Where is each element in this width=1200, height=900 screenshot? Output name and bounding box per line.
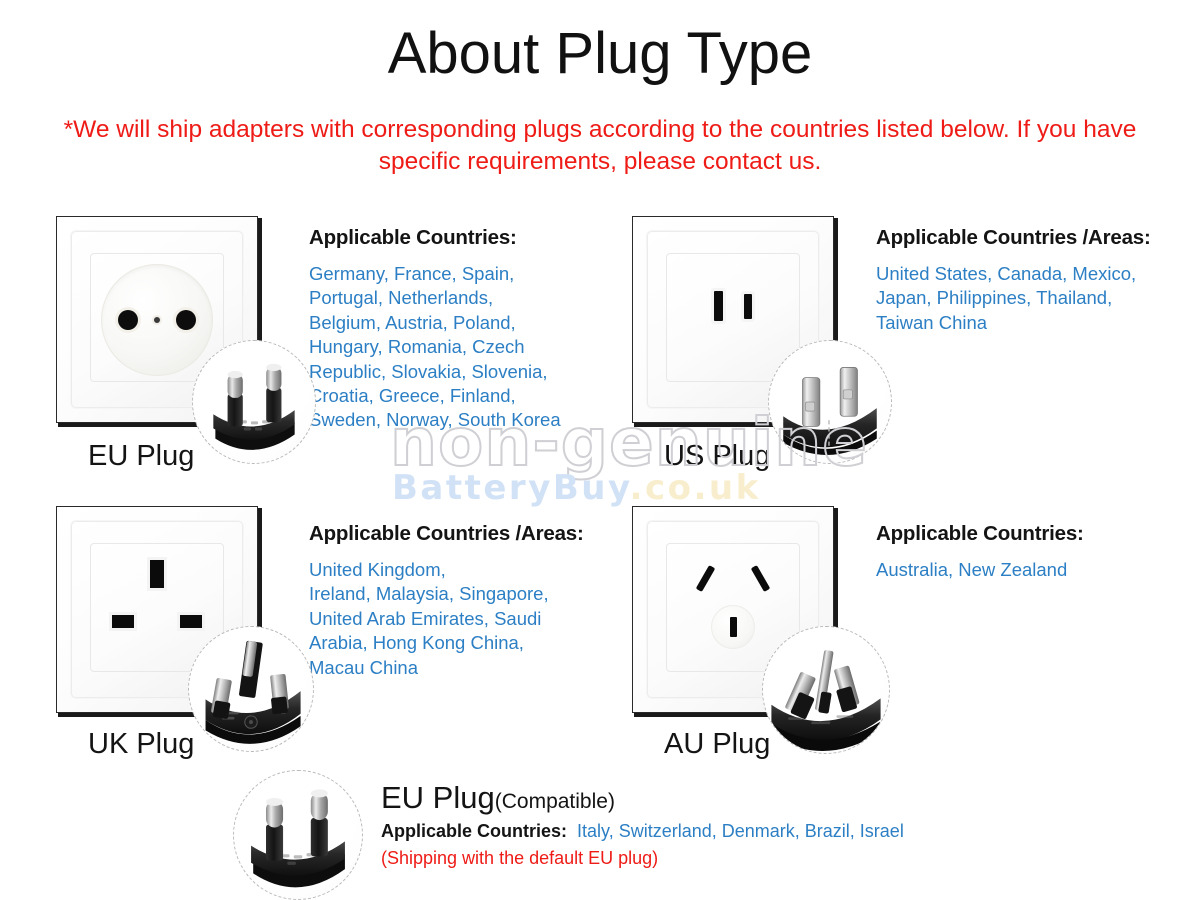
eu-plug-icon-compatible (233, 770, 363, 900)
countries-heading-uk: Applicable Countries /Areas: (309, 522, 609, 546)
uk-earth-slot (150, 560, 164, 588)
country-line: United States, Canada, Mexico, (876, 262, 1186, 286)
eu-round-recess (101, 264, 213, 376)
country-line: Australia, New Zealand (876, 558, 1176, 582)
country-line: Hungary, Romania, Czech (309, 335, 599, 359)
country-line: United Arab Emirates, Saudi (309, 607, 609, 631)
au-live-slot (696, 565, 716, 592)
plug-label-eu: EU Plug (88, 440, 194, 473)
plug-label-uk: UK Plug (88, 728, 194, 761)
compatible-countries-values: Italy, Switzerland, Denmark, Brazil, Isr… (577, 821, 904, 841)
us-plug-icon (768, 340, 892, 464)
plug-card-eu (56, 216, 258, 423)
plug-card-us (632, 216, 834, 423)
eu-plug-icon (192, 340, 316, 464)
countries-block-uk: Applicable Countries /Areas: United King… (309, 522, 609, 680)
shipping-note: *We will ship adapters with correspondin… (60, 114, 1140, 179)
countries-block-us: Applicable Countries /Areas: United Stat… (876, 226, 1186, 335)
au-neutral-slot (751, 565, 771, 592)
uk-neutral-slot (180, 615, 202, 628)
us-slot-left (714, 291, 723, 321)
socket-plate-inner (666, 253, 800, 382)
countries-heading-us: Applicable Countries /Areas: (876, 226, 1186, 250)
compatible-title-main: EU Plug (381, 780, 495, 815)
country-line: Arabia, Hong Kong China, (309, 631, 609, 655)
plug-card-uk: CE (56, 506, 258, 713)
watermark-site: BatteryBuy.co.uk (392, 468, 761, 508)
au-earth-recess (711, 605, 755, 649)
country-line: Sweden, Norway, South Korea (309, 408, 599, 432)
country-line: Taiwan China (876, 311, 1186, 335)
eu-pin-hole-right (176, 310, 196, 330)
compatible-title: EU Plug(Compatible) (381, 780, 615, 816)
plug-label-au: AU Plug (664, 728, 770, 761)
page-title: About Plug Type (0, 24, 1200, 85)
countries-heading-eu: Applicable Countries: (309, 226, 599, 250)
plug-label-us: US Plug (664, 440, 770, 473)
country-line: Portugal, Netherlands, (309, 286, 599, 310)
country-line: Ireland, Malaysia, Singapore, (309, 582, 609, 606)
compatible-title-suffix: (Compatible) (495, 790, 615, 813)
country-line: Germany, France, Spain, (309, 262, 599, 286)
watermark-brand: BatteryBuy (392, 468, 630, 508)
countries-heading-au: Applicable Countries: (876, 522, 1176, 546)
au-earth-slot (730, 617, 737, 637)
countries-list-eu: Germany, France, Spain, Portugal, Nether… (309, 262, 599, 433)
compatible-shipping-note: (Shipping with the default EU plug) (381, 848, 658, 869)
country-line: Republic, Slovakia, Slovenia, (309, 360, 599, 384)
compatible-countries-label: Applicable Countries: (381, 821, 567, 841)
compatible-countries-line: Applicable Countries: Italy, Switzerland… (381, 821, 904, 842)
au-plug-icon (762, 626, 890, 754)
us-slot-right (744, 294, 752, 319)
socket-plate-inner (90, 253, 224, 382)
countries-list-au: Australia, New Zealand (876, 558, 1176, 582)
countries-list-uk: United Kingdom, Ireland, Malaysia, Singa… (309, 558, 609, 680)
countries-list-us: United States, Canada, Mexico, Japan, Ph… (876, 262, 1186, 335)
country-line: Japan, Philippines, Thailand, (876, 286, 1186, 310)
eu-center-dot (154, 317, 160, 323)
watermark-tld: .co.uk (630, 468, 761, 508)
country-line: Croatia, Greece, Finland, (309, 384, 599, 408)
eu-pin-hole-left (118, 310, 138, 330)
country-line: Macau China (309, 656, 609, 680)
countries-block-eu: Applicable Countries: Germany, France, S… (309, 226, 599, 433)
country-line: United Kingdom, (309, 558, 609, 582)
uk-live-slot (112, 615, 134, 628)
plug-card-au (632, 506, 834, 713)
country-line: Belgium, Austria, Poland, (309, 311, 599, 335)
uk-plug-icon: CE (188, 626, 314, 752)
countries-block-au: Applicable Countries: Australia, New Zea… (876, 522, 1176, 582)
